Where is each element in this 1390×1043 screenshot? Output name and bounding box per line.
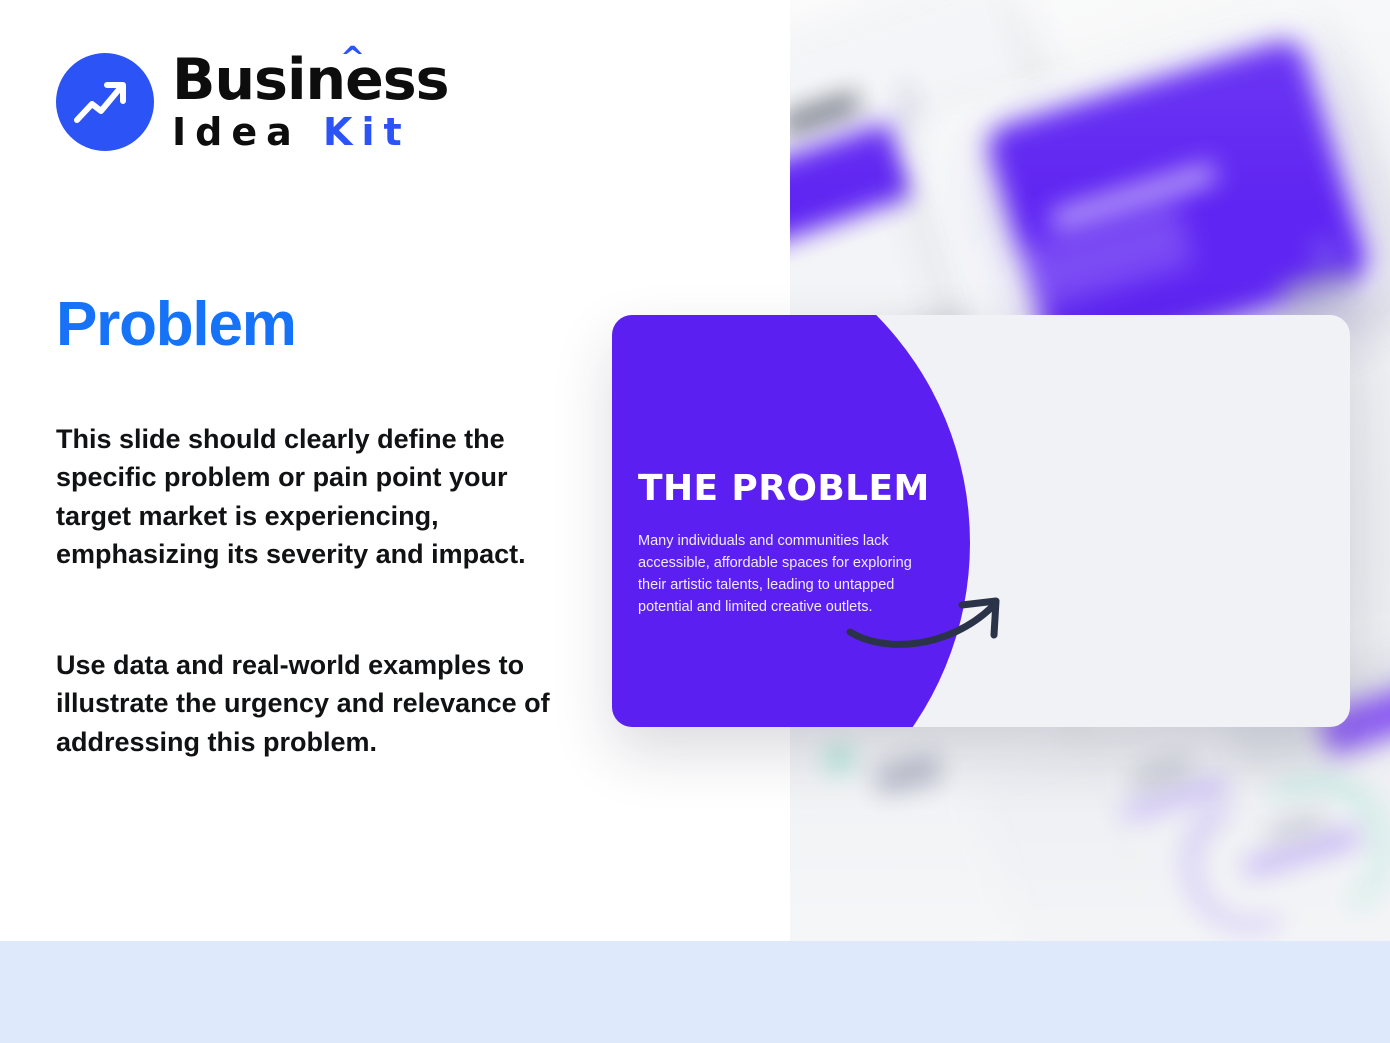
growth-chart-circle-icon [56, 53, 154, 151]
brand-name-line1-text: Business [172, 47, 449, 113]
page-title: Problem [56, 294, 296, 356]
bottom-band [0, 941, 1390, 1043]
slide-page: Business ^ Idea Kit Problem This slide s… [0, 0, 1390, 1043]
body-paragraph-1: This slide should clearly define the spe… [56, 420, 566, 573]
mock-dot [1312, 240, 1338, 266]
brand-accent-caret-icon: ^ [340, 44, 364, 74]
slide-heading: THE PROBLEM [638, 468, 930, 509]
brand-name-line1: Business ^ [172, 52, 449, 109]
mock-green-dot [828, 748, 850, 770]
purple-blob-shape [612, 315, 970, 727]
brand-name-idea: Idea [172, 110, 301, 154]
curved-arrow-up-right-icon [844, 587, 1014, 657]
brand-logo[interactable]: Business ^ Idea Kit [56, 52, 449, 151]
body-paragraph-2: Use data and real-world examples to illu… [56, 646, 566, 761]
brand-wordmark: Business ^ Idea Kit [172, 52, 449, 151]
brand-name-line2: Idea Kit [172, 113, 449, 151]
brand-name-kit: Kit [323, 110, 411, 154]
slide-preview-card[interactable]: THE PROBLEM Many individuals and communi… [612, 315, 1350, 727]
